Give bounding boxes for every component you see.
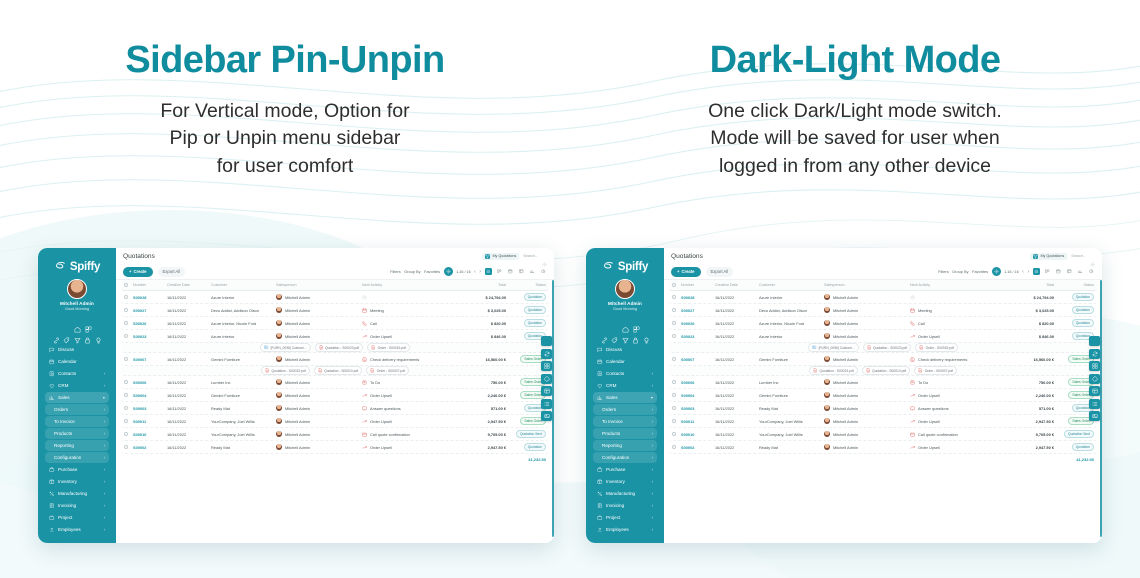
cell-next-activity[interactable]: Order Upsell bbox=[362, 445, 454, 450]
cell-next-activity[interactable]: Call quote confirmation bbox=[362, 432, 454, 437]
chevron-right-icon[interactable]: › bbox=[652, 371, 653, 376]
export-label: Export All bbox=[711, 269, 729, 274]
cell-number[interactable]: S00027 bbox=[681, 308, 715, 313]
attachment-chip[interactable]: Order - S00015.pdf bbox=[915, 343, 958, 352]
table-row[interactable]: S0000416/11/2022Gemini FurnitureMitchell… bbox=[121, 389, 549, 402]
table-row[interactable]: S0001116/11/2022YourCompany, Joel Willis… bbox=[121, 415, 549, 428]
chevron-right-icon[interactable]: › bbox=[1027, 269, 1029, 275]
cell-next-activity[interactable]: Call bbox=[910, 321, 1002, 326]
view-switch-graph-view-icon[interactable] bbox=[1077, 268, 1085, 276]
fab-refresh-icon[interactable] bbox=[1089, 349, 1100, 359]
cell-salesperson: Mitchell Admin bbox=[276, 320, 362, 326]
sidebar-item-reporting[interactable]: Reporting› bbox=[593, 440, 657, 451]
cell-number[interactable]: S00002 bbox=[133, 445, 167, 450]
user-profile[interactable]: Mitchell AdminGood Morning bbox=[42, 279, 112, 315]
view-switch-list-view-icon[interactable] bbox=[1033, 268, 1041, 276]
sidebar-item-contacts[interactable]: Contacts› bbox=[593, 368, 657, 379]
pdf-file-icon bbox=[319, 345, 324, 350]
column-header-number[interactable]: Number bbox=[133, 283, 167, 287]
fab-palette-icon[interactable] bbox=[541, 374, 552, 384]
cell-next-activity[interactable]: Call bbox=[362, 321, 454, 326]
chevron-right-icon[interactable]: › bbox=[104, 503, 105, 508]
attachment-chip[interactable]: Order - S00007.pdf bbox=[366, 366, 409, 375]
chevron-right-icon[interactable]: › bbox=[652, 491, 653, 496]
group-by-button[interactable]: Group By bbox=[404, 269, 420, 274]
sidebar-item-orders[interactable]: Orders› bbox=[593, 404, 657, 415]
row-checkbox[interactable] bbox=[124, 432, 133, 436]
brand-logo[interactable]: Spiffy bbox=[590, 256, 660, 279]
settings-icon[interactable] bbox=[63, 320, 70, 327]
chevron-right-icon[interactable]: › bbox=[652, 443, 653, 448]
chevron-down-icon[interactable]: ▾ bbox=[651, 395, 653, 400]
sidebar-item-discuss[interactable]: Discuss bbox=[45, 345, 109, 356]
cell-number[interactable]: S00028 bbox=[681, 295, 715, 300]
attachment-chip[interactable]: [FURN_0096] Customi... bbox=[808, 343, 858, 352]
sidebar-item-sales[interactable]: Sales▾ bbox=[593, 392, 657, 403]
table-row[interactable]: S0001116/11/2022YourCompany, Joel Willis… bbox=[669, 415, 1097, 428]
sidebar-item-inventory[interactable]: Inventory› bbox=[593, 476, 657, 487]
view-switch-activity-view-icon[interactable] bbox=[540, 268, 548, 276]
subtitle-left-line-3: for user comfort bbox=[30, 153, 540, 181]
quick-actions-row-2 bbox=[42, 331, 112, 338]
cell-total: 571.00 € bbox=[1002, 406, 1054, 411]
sidebar-item-discuss[interactable]: Discuss bbox=[593, 345, 657, 356]
cell-next-activity[interactable]: Check delivery requirements bbox=[910, 357, 1002, 362]
column-header-creation-date[interactable]: Creation Date bbox=[715, 283, 759, 287]
sidebar-item-manufacturing[interactable]: Manufacturing› bbox=[45, 488, 109, 499]
gear-icon[interactable] bbox=[542, 254, 547, 259]
group-by-button[interactable]: Group By bbox=[952, 269, 968, 274]
row-checkbox[interactable] bbox=[124, 406, 133, 410]
attachment-chip-label: [FURN_0096] Customi... bbox=[271, 346, 307, 350]
cell-number[interactable]: S00003 bbox=[681, 406, 715, 411]
fab-palette-icon[interactable] bbox=[1089, 374, 1100, 384]
sidebar-item-project[interactable]: Project› bbox=[593, 512, 657, 523]
filters-button[interactable]: Filters bbox=[938, 269, 949, 274]
attachment-chip[interactable]: Quotation - S00010.pdf bbox=[862, 366, 911, 375]
create-button[interactable]: +Create bbox=[123, 267, 153, 277]
filter-icon[interactable] bbox=[622, 331, 629, 338]
cell-number[interactable]: S00003 bbox=[133, 406, 167, 411]
cell-next-activity[interactable] bbox=[362, 295, 454, 300]
sidebar-item-label: Employees bbox=[606, 527, 648, 532]
export-all-button[interactable]: Export All bbox=[706, 267, 734, 277]
table-row[interactable]: S0001016/11/2022YourCompany, Joel Willis… bbox=[121, 428, 549, 441]
attachment-chip[interactable]: Quotation - S00023.pdf bbox=[261, 366, 310, 375]
chevron-right-icon[interactable]: › bbox=[104, 467, 105, 472]
fab-list-icon[interactable] bbox=[541, 399, 552, 409]
cell-number[interactable]: S00010 bbox=[681, 432, 715, 437]
table-row[interactable]: S0002716/11/2022Deco Addict, Addison Ols… bbox=[669, 304, 1097, 317]
sidebar-item-calendar[interactable]: Calendar bbox=[593, 356, 657, 367]
chevron-right-icon[interactable]: › bbox=[104, 455, 105, 460]
tag-icon[interactable] bbox=[611, 331, 618, 338]
subtitle-right-line-1: One click Dark/Light mode switch. bbox=[600, 98, 1110, 126]
sidebar-item-label: Inventory bbox=[606, 479, 648, 484]
column-header-number[interactable]: Number bbox=[681, 283, 715, 287]
sidebar-item-crm[interactable]: CRM› bbox=[593, 380, 657, 391]
sidebar-item-invoicing[interactable]: Invoicing› bbox=[45, 500, 109, 511]
fab-layout-icon[interactable] bbox=[541, 386, 552, 396]
quotations-table: NumberCreation DateCustomerSalespersonNe… bbox=[664, 280, 1102, 543]
sidebar-item-reporting[interactable]: Reporting› bbox=[45, 440, 109, 451]
cell-salesperson: Mitchell Admin bbox=[824, 307, 910, 313]
sidebar-item-employees[interactable]: Employees› bbox=[45, 524, 109, 535]
cell-number[interactable]: S00011 bbox=[133, 419, 167, 424]
chevron-right-icon[interactable]: › bbox=[652, 431, 653, 436]
column-header-salesperson[interactable]: Salesperson bbox=[276, 283, 362, 287]
filter-facet-my-quotations[interactable]: My Quotations bbox=[482, 253, 519, 260]
row-checkbox[interactable] bbox=[124, 445, 133, 449]
column-header-salesperson[interactable]: Salesperson bbox=[824, 283, 910, 287]
row-checkbox[interactable] bbox=[672, 419, 681, 423]
row-checkbox[interactable] bbox=[672, 380, 681, 384]
cell-customer: Ready Mat bbox=[211, 406, 276, 411]
cell-number[interactable]: S00026 bbox=[133, 321, 167, 326]
cell-creation-date: 16/11/2022 bbox=[167, 357, 211, 362]
chevron-right-icon[interactable]: › bbox=[104, 527, 105, 532]
sidebar-item-project[interactable]: Project› bbox=[45, 512, 109, 523]
sidebar-item-products[interactable]: Products› bbox=[593, 428, 657, 439]
cell-number[interactable]: S00006 bbox=[133, 380, 167, 385]
apps-grid-icon[interactable] bbox=[85, 320, 92, 327]
settings-icon[interactable] bbox=[611, 320, 618, 327]
attachment-chip[interactable]: Quotation - S00023.pdf bbox=[863, 343, 912, 352]
scrollbar[interactable] bbox=[1100, 280, 1102, 537]
table-row[interactable]: S0000216/11/2022Ready MatMitchell AdminO… bbox=[669, 441, 1097, 454]
fab-refresh-icon[interactable] bbox=[541, 349, 552, 359]
fab-image-icon[interactable] bbox=[1089, 411, 1100, 421]
cell-number[interactable]: S00002 bbox=[681, 445, 715, 450]
chevron-right-icon[interactable]: › bbox=[104, 491, 105, 496]
slide-stage: Sidebar Pin-Unpin For Vertical mode, Opt… bbox=[0, 0, 1140, 578]
cell-next-activity[interactable]: Order Upsell bbox=[362, 393, 454, 398]
table-row[interactable]: S0002316/11/2022Azure InteriorMitchell A… bbox=[669, 330, 1097, 343]
fab-image-icon[interactable] bbox=[541, 411, 552, 421]
link-icon[interactable] bbox=[53, 331, 60, 338]
column-header-creation-date[interactable]: Creation Date bbox=[167, 283, 211, 287]
view-switch-kanban-view-icon[interactable] bbox=[1044, 268, 1052, 276]
select-all-checkbox[interactable] bbox=[672, 283, 681, 287]
column-header-next-activity[interactable]: Next Activity bbox=[910, 283, 1002, 287]
settings-round-button[interactable] bbox=[992, 267, 1001, 276]
sidebar-item-label: Orders bbox=[54, 407, 100, 412]
callback-icon bbox=[362, 432, 367, 437]
cell-next-activity[interactable]: Check delivery requirements bbox=[362, 357, 454, 362]
cell-next-activity[interactable]: Meeting bbox=[910, 308, 1002, 313]
table-row[interactable]: S0002616/11/2022Azure Interior, Nicole F… bbox=[121, 317, 549, 330]
row-checkbox[interactable] bbox=[672, 308, 681, 312]
cell-next-activity-label: Call bbox=[918, 321, 925, 326]
table-row[interactable]: S0000616/11/2022Lumber IncMitchell Admin… bbox=[121, 376, 549, 389]
sidebar-item-inventory[interactable]: Inventory› bbox=[45, 476, 109, 487]
filter-facet-my-quotations[interactable]: My Quotations bbox=[1030, 253, 1067, 260]
cell-next-activity[interactable] bbox=[910, 295, 1002, 300]
row-checkbox[interactable] bbox=[124, 295, 133, 299]
main-panel-right: QuotationsMy QuotationsSearch...+CreateE… bbox=[664, 248, 1102, 543]
sidebar-item-invoicing[interactable]: Invoicing› bbox=[593, 500, 657, 511]
fab-list-icon[interactable] bbox=[1089, 399, 1100, 409]
cell-creation-date: 16/11/2022 bbox=[167, 419, 211, 424]
upsell-icon bbox=[910, 393, 915, 398]
fab-settings-icon[interactable] bbox=[1089, 336, 1100, 346]
table-row[interactable]: S0000216/11/2022Ready MatMitchell AdminO… bbox=[121, 441, 549, 454]
view-switch-pivot-view-icon[interactable] bbox=[1066, 268, 1074, 276]
row-checkbox[interactable] bbox=[124, 419, 133, 423]
chevron-right-icon[interactable]: › bbox=[104, 371, 105, 376]
brand-logo[interactable]: Spiffy bbox=[42, 256, 112, 279]
cell-total: 2,947.50 € bbox=[1002, 419, 1054, 424]
avatar bbox=[276, 356, 282, 362]
cell-customer: Lumber Inc bbox=[759, 380, 824, 385]
sidebar-item-manufacturing[interactable]: Manufacturing› bbox=[593, 488, 657, 499]
chevron-right-icon[interactable]: › bbox=[104, 443, 105, 448]
attachment-chip[interactable]: Quotation - S00010.pdf bbox=[314, 366, 363, 375]
sidebar-item-contacts[interactable]: Contacts› bbox=[45, 368, 109, 379]
table-row[interactable]: S0002316/11/2022Azure InteriorMitchell A… bbox=[121, 330, 549, 343]
row-checkbox[interactable] bbox=[124, 321, 133, 325]
attachment-chip-label: [FURN_0096] Customi... bbox=[819, 346, 855, 350]
sidebar-item-crm[interactable]: CRM› bbox=[45, 380, 109, 391]
sidebar-menu: DiscussCalendarContacts›CRM›Sales▾Orders… bbox=[590, 345, 660, 540]
upsell-icon bbox=[362, 393, 367, 398]
pdf-file-icon bbox=[265, 368, 270, 373]
sidebar-item-recruitment[interactable]: Recruitment› bbox=[45, 536, 109, 539]
table-row[interactable]: S0002816/11/2022Azure InteriorMitchell A… bbox=[669, 291, 1097, 304]
table-row[interactable]: S0000716/11/2022Gemini FurnitureMitchell… bbox=[121, 353, 549, 366]
chevron-right-icon[interactable]: › bbox=[652, 527, 653, 532]
cell-next-activity[interactable]: Call quote confirmation bbox=[910, 432, 1002, 437]
filter-icon[interactable] bbox=[74, 331, 81, 338]
select-all-checkbox[interactable] bbox=[124, 283, 133, 287]
chevron-down-icon[interactable]: ▾ bbox=[103, 395, 105, 400]
sidebar-item-purchase[interactable]: Purchase› bbox=[593, 464, 657, 475]
column-header-customer[interactable]: Customer bbox=[211, 283, 276, 287]
column-header-total[interactable]: Total bbox=[1002, 283, 1054, 287]
cell-next-activity[interactable]: Order Upsell bbox=[362, 334, 454, 339]
tag-icon[interactable] bbox=[63, 331, 70, 338]
chevron-right-icon[interactable]: › bbox=[104, 515, 105, 520]
row-checkbox[interactable] bbox=[672, 357, 681, 361]
cell-customer: Ready Mat bbox=[759, 445, 824, 450]
sidebar-item-sales[interactable]: Sales▾ bbox=[45, 392, 109, 403]
fab-layout-icon[interactable] bbox=[1089, 386, 1100, 396]
row-checkbox[interactable] bbox=[672, 406, 681, 410]
row-checkbox[interactable] bbox=[672, 321, 681, 325]
status-badge: Quotation Sent bbox=[516, 430, 546, 438]
chevron-right-icon[interactable]: › bbox=[104, 431, 105, 436]
settings-round-button[interactable] bbox=[444, 267, 453, 276]
row-checkbox[interactable] bbox=[672, 445, 681, 449]
cell-next-activity[interactable]: To Do bbox=[910, 380, 1002, 385]
chevron-right-icon[interactable]: › bbox=[652, 419, 653, 424]
home-icon[interactable] bbox=[622, 320, 629, 327]
cell-salesperson: Mitchell Admin bbox=[276, 307, 362, 313]
fab-settings-icon[interactable] bbox=[541, 336, 552, 346]
user-profile[interactable]: Mitchell AdminGood Morning bbox=[590, 279, 660, 315]
avatar bbox=[276, 405, 282, 411]
sidebar-item-recruitment[interactable]: Recruitment› bbox=[593, 536, 657, 539]
avatar bbox=[824, 356, 830, 362]
cell-number[interactable]: S00004 bbox=[133, 393, 167, 398]
table-row[interactable]: S0000716/11/2022Gemini FurnitureMitchell… bbox=[669, 353, 1097, 366]
row-checkbox[interactable] bbox=[124, 308, 133, 312]
sidebar-left: SpiffyMitchell AdminGood MorningDiscussC… bbox=[38, 248, 116, 543]
column-header-status[interactable]: Status bbox=[1054, 283, 1094, 287]
fab-grid-icon[interactable] bbox=[1089, 361, 1100, 371]
view-switch-graph-view-icon[interactable] bbox=[529, 268, 537, 276]
create-button[interactable]: +Create bbox=[671, 267, 701, 277]
lock-icon[interactable] bbox=[84, 331, 91, 338]
column-header-status[interactable]: Status bbox=[506, 283, 546, 287]
sidebar-item-calendar[interactable]: Calendar bbox=[45, 356, 109, 367]
chevron-right-icon[interactable]: › bbox=[104, 479, 105, 484]
heading-column-right: Dark-Light Mode One click Dark/Light mod… bbox=[570, 40, 1140, 181]
view-switch-pivot-view-icon[interactable] bbox=[518, 268, 526, 276]
cell-number[interactable]: S00010 bbox=[133, 432, 167, 437]
cell-next-activity[interactable]: Order Upsell bbox=[910, 334, 1002, 339]
cell-next-activity[interactable]: Order Upsell bbox=[910, 393, 1002, 398]
view-switch-calendar-view-icon[interactable] bbox=[507, 268, 515, 276]
chevron-right-icon[interactable]: › bbox=[652, 455, 653, 460]
sidebar-item-to-invoice[interactable]: To Invoice› bbox=[45, 416, 109, 427]
view-switch-calendar-view-icon[interactable] bbox=[1055, 268, 1063, 276]
chevron-right-icon[interactable]: › bbox=[652, 407, 653, 412]
table-row[interactable]: S0000416/11/2022Gemini FurnitureMitchell… bbox=[669, 389, 1097, 402]
favorites-button[interactable]: Favorites bbox=[424, 269, 440, 274]
sidebar-item-purchase[interactable]: Purchase› bbox=[45, 464, 109, 475]
table-header-row: NumberCreation DateCustomerSalespersonNe… bbox=[669, 280, 1097, 291]
table-row[interactable]: S0002816/11/2022Azure InteriorMitchell A… bbox=[121, 291, 549, 304]
cell-total: 750.00 € bbox=[454, 380, 506, 385]
sidebar-item-products[interactable]: Products› bbox=[45, 428, 109, 439]
cell-customer: Deco Addict, Addison Olson bbox=[211, 308, 276, 313]
gear-icon[interactable] bbox=[1090, 254, 1095, 259]
fab-grid-icon[interactable] bbox=[541, 361, 552, 371]
row-checkbox[interactable] bbox=[672, 295, 681, 299]
row-checkbox[interactable] bbox=[124, 380, 133, 384]
view-switch-kanban-view-icon[interactable] bbox=[496, 268, 504, 276]
cell-number[interactable]: S00023 bbox=[681, 334, 715, 339]
column-header-customer[interactable]: Customer bbox=[759, 283, 824, 287]
row-checkbox[interactable] bbox=[124, 334, 133, 338]
row-checkbox[interactable] bbox=[672, 334, 681, 338]
cell-next-activity[interactable]: Order Upsell bbox=[910, 445, 1002, 450]
export-all-button[interactable]: Export All bbox=[158, 267, 186, 277]
chevron-right-icon[interactable]: › bbox=[104, 383, 105, 388]
column-header-next-activity[interactable]: Next Activity bbox=[362, 283, 454, 287]
cell-next-activity[interactable]: Answer questions bbox=[362, 406, 454, 411]
sidebar-item-configuration[interactable]: Configuration› bbox=[45, 452, 109, 463]
attachment-chip[interactable]: Order - S00015.pdf bbox=[367, 343, 410, 352]
bulb-icon[interactable] bbox=[643, 331, 650, 338]
chevron-right-icon[interactable]: › bbox=[104, 407, 105, 412]
row-checkbox[interactable] bbox=[672, 393, 681, 397]
table-row[interactable]: S0000616/11/2022Lumber IncMitchell Admin… bbox=[669, 376, 1097, 389]
cell-number[interactable]: S00027 bbox=[133, 308, 167, 313]
cell-total: $ 846.00 bbox=[454, 334, 506, 339]
search-input[interactable]: Search... bbox=[1071, 254, 1086, 258]
cell-number[interactable]: S00007 bbox=[133, 357, 167, 362]
cell-number[interactable]: S00023 bbox=[133, 334, 167, 339]
filters-button-label: Filters bbox=[938, 269, 949, 274]
cell-next-activity-label: Order Upsell bbox=[370, 334, 392, 339]
sidebar-item-label: Sales bbox=[606, 395, 647, 400]
row-checkbox[interactable] bbox=[124, 393, 133, 397]
view-switch-list-view-icon[interactable] bbox=[485, 268, 493, 276]
cell-number[interactable]: S00004 bbox=[681, 393, 715, 398]
scrollbar[interactable] bbox=[552, 280, 554, 537]
cell-number[interactable]: S00011 bbox=[681, 419, 715, 424]
attachment-chip[interactable]: [FURN_0096] Customi... bbox=[260, 343, 310, 352]
cell-number[interactable]: S00026 bbox=[681, 321, 715, 326]
filters-button[interactable]: Filters bbox=[390, 269, 401, 274]
cell-next-activity[interactable]: Meeting bbox=[362, 308, 454, 313]
cell-number[interactable]: S00007 bbox=[681, 357, 715, 362]
sidebar-item-employees[interactable]: Employees› bbox=[593, 524, 657, 535]
attachment-chip-label: Quotation - S00010.pdf bbox=[324, 369, 358, 373]
chevron-right-icon[interactable]: › bbox=[652, 515, 653, 520]
table-row[interactable]: S0000316/11/2022Ready MatMitchell AdminA… bbox=[669, 402, 1097, 415]
chevron-right-icon[interactable]: › bbox=[652, 383, 653, 388]
chevron-right-icon[interactable]: › bbox=[652, 467, 653, 472]
cell-next-activity[interactable]: Answer questions bbox=[910, 406, 1002, 411]
cell-creation-date: 16/11/2022 bbox=[715, 334, 759, 339]
upsell-icon bbox=[362, 419, 367, 424]
cell-next-activity[interactable]: Order Upsell bbox=[910, 419, 1002, 424]
cell-next-activity[interactable]: Order Upsell bbox=[362, 419, 454, 424]
chevron-left-icon[interactable]: ‹ bbox=[474, 269, 476, 275]
cell-customer: YourCompany, Joel Willis bbox=[211, 432, 276, 437]
chevron-right-icon[interactable]: › bbox=[652, 479, 653, 484]
column-header-total[interactable]: Total bbox=[454, 283, 506, 287]
cell-number[interactable]: S00006 bbox=[681, 380, 715, 385]
chevron-left-icon[interactable]: ‹ bbox=[1022, 269, 1024, 275]
attachment-chip[interactable]: Quotation - S00023.pdf bbox=[315, 343, 364, 352]
chevron-right-icon[interactable]: › bbox=[652, 503, 653, 508]
table-row[interactable]: S0001016/11/2022YourCompany, Joel Willis… bbox=[669, 428, 1097, 441]
sidebar-item-orders[interactable]: Orders› bbox=[45, 404, 109, 415]
search-input[interactable]: Search... bbox=[523, 254, 538, 258]
cell-next-activity[interactable]: To Do bbox=[362, 380, 454, 385]
bulb-icon[interactable] bbox=[95, 331, 102, 338]
favorites-button[interactable]: Favorites bbox=[972, 269, 988, 274]
cell-customer: YourCompany, Joel Willis bbox=[211, 419, 276, 424]
view-switch-activity-view-icon[interactable] bbox=[1088, 268, 1096, 276]
chevron-right-icon[interactable]: › bbox=[104, 419, 105, 424]
attachment-chip[interactable]: Order - S00007.pdf bbox=[914, 366, 957, 375]
chevron-right-icon[interactable]: › bbox=[479, 269, 481, 275]
cell-salesperson-name: Mitchell Admin bbox=[285, 321, 310, 326]
favorites-button-label: Favorites bbox=[424, 269, 440, 274]
cell-total: $ 846.00 bbox=[1002, 334, 1054, 339]
cell-number[interactable]: S00028 bbox=[133, 295, 167, 300]
sidebar-item-configuration[interactable]: Configuration› bbox=[593, 452, 657, 463]
table-row[interactable]: S0002716/11/2022Deco Addict, Addison Ols… bbox=[121, 304, 549, 317]
row-checkbox[interactable] bbox=[124, 357, 133, 361]
home-icon[interactable] bbox=[74, 320, 81, 327]
table-row[interactable]: S0002616/11/2022Azure Interior, Nicole F… bbox=[669, 317, 1097, 330]
attachment-chip[interactable]: Quotation - S00023.pdf bbox=[809, 366, 858, 375]
link-icon[interactable] bbox=[601, 331, 608, 338]
sidebar-item-to-invoice[interactable]: To Invoice› bbox=[593, 416, 657, 427]
cell-salesperson: Mitchell Admin bbox=[276, 294, 362, 300]
apps-grid-icon[interactable] bbox=[633, 320, 640, 327]
row-checkbox[interactable] bbox=[672, 432, 681, 436]
sidebar-item-label: Sales bbox=[58, 395, 99, 400]
table-row[interactable]: S0000316/11/2022Ready MatMitchell AdminA… bbox=[121, 402, 549, 415]
lock-icon[interactable] bbox=[632, 331, 639, 338]
